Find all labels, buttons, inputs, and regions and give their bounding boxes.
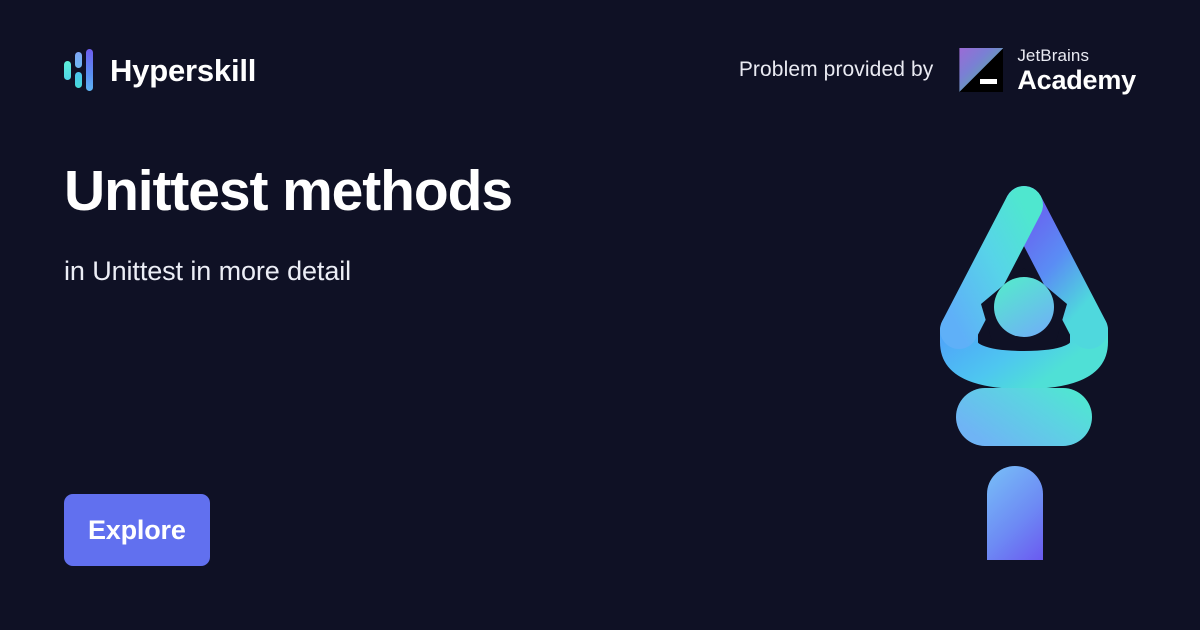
logo-bar-right — [86, 49, 93, 91]
hyperskill-wordmark: Hyperskill — [110, 55, 256, 86]
hyperskill-brand[interactable]: Hyperskill — [64, 49, 256, 91]
problem-provider: Problem provided by JetBrains Academy — [739, 47, 1136, 94]
share-card: Hyperskill Problem provided by JetBrains… — [0, 0, 1200, 630]
logo-bar-middle-top — [75, 52, 82, 68]
jetbrains-gradient-triangle — [959, 48, 1003, 92]
provided-by-label: Problem provided by — [739, 58, 934, 82]
hyperskill-torch-icon — [934, 180, 1114, 560]
logo-bar-left — [64, 61, 71, 80]
jetbrains-square-icon — [959, 48, 1003, 92]
card-main: Unittest methods in Unittest in more det… — [64, 160, 844, 289]
logo-bar-middle-bottom — [75, 72, 82, 88]
hero-pentagon-group — [959, 205, 1089, 370]
hero-inner-circle — [994, 277, 1054, 337]
card-header: Hyperskill Problem provided by JetBrains… — [0, 0, 1200, 140]
hyperskill-bars-icon — [64, 49, 94, 91]
page-title: Unittest methods — [64, 160, 844, 224]
explore-button[interactable]: Explore — [64, 494, 210, 566]
hero-vertical-pill — [987, 466, 1043, 560]
jetbrains-academy-logo[interactable]: JetBrains Academy — [959, 47, 1136, 94]
hero-horizontal-pill — [956, 388, 1092, 446]
page-subtitle: in Unittest in more detail — [64, 254, 844, 289]
jetbrains-academy-wordmark: JetBrains Academy — [1017, 47, 1136, 94]
academy-label: Academy — [1017, 67, 1136, 94]
jetbrains-label: JetBrains — [1017, 47, 1089, 64]
jetbrains-dash-mark — [980, 79, 997, 84]
